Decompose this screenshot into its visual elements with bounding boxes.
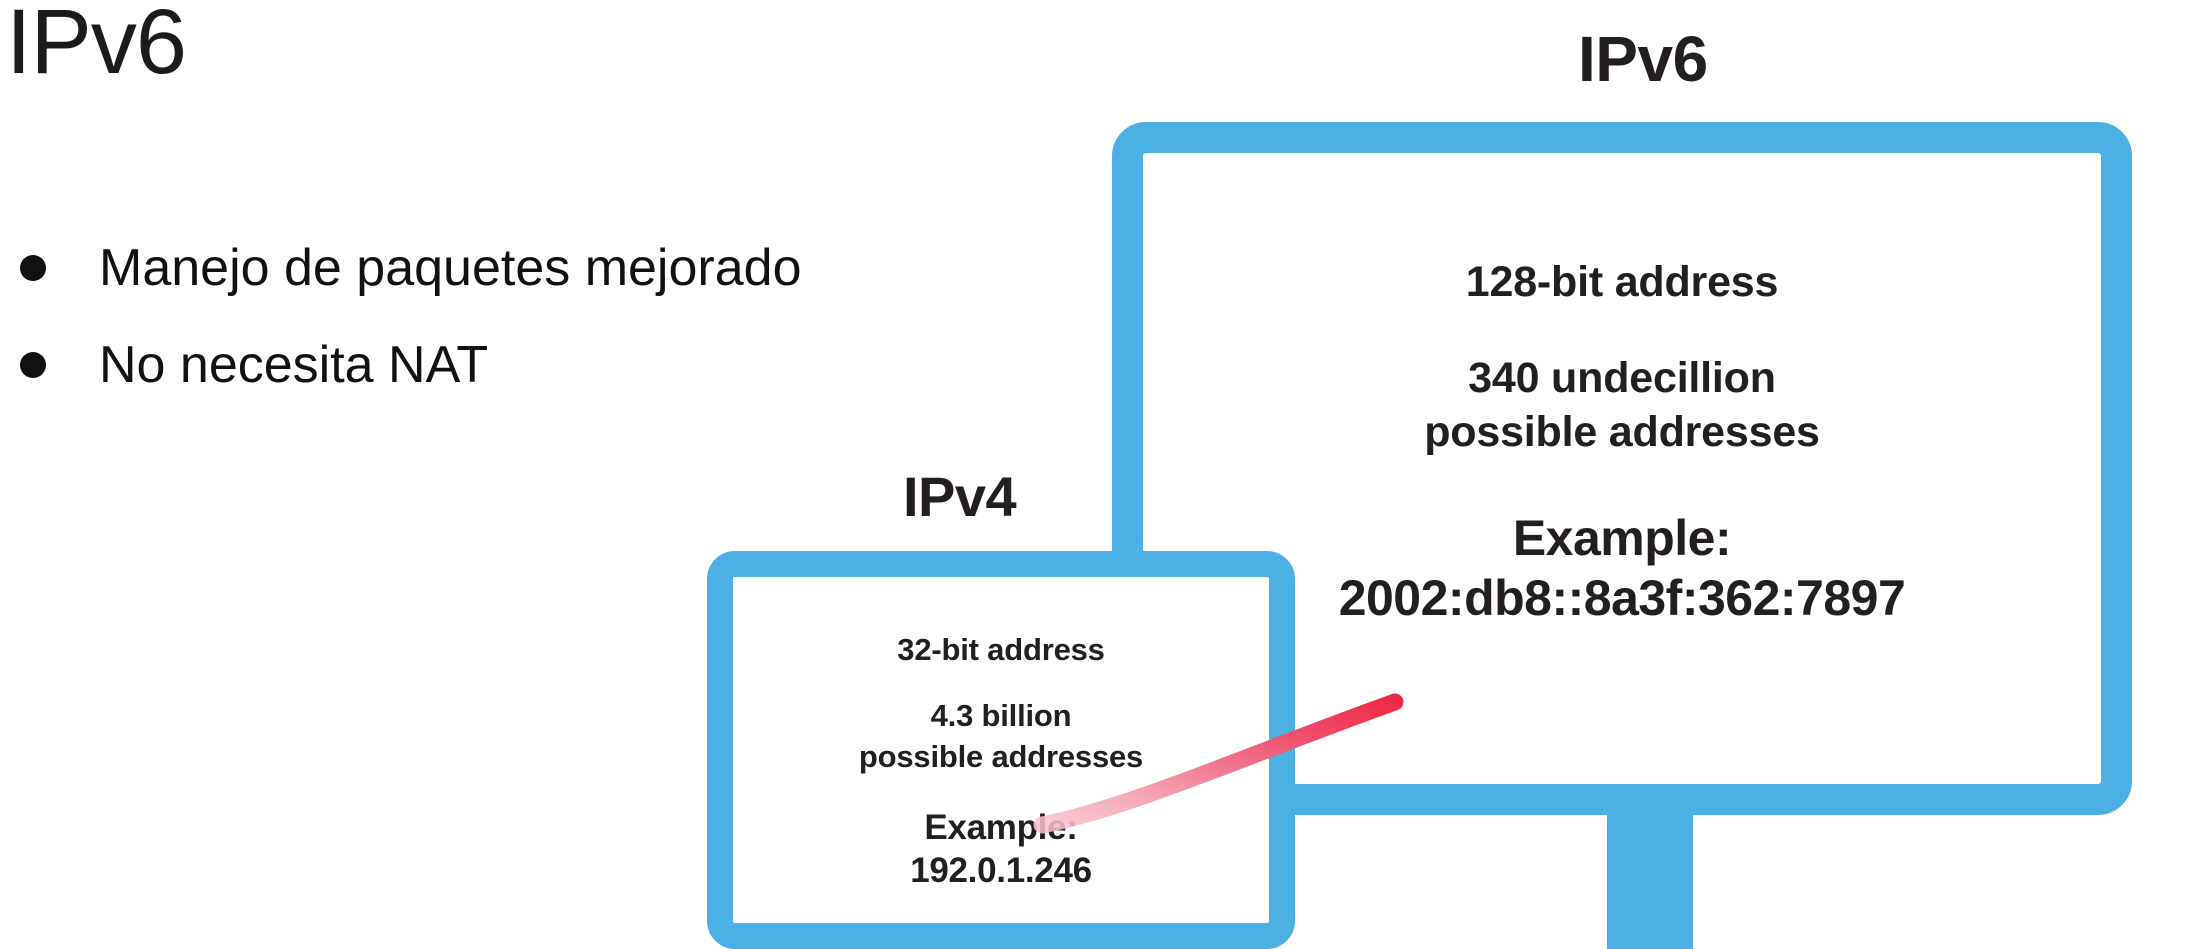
ipv6-example-block: Example: 2002:db8::8a3f:362:7897 — [1160, 508, 2084, 628]
ipv4-screen-content: 32-bit address 4.3 billion possible addr… — [740, 630, 1262, 892]
ipv6-diagram-label: IPv6 — [1578, 21, 1708, 98]
bullet-dot-icon — [20, 255, 46, 281]
page-title: IPv6 — [6, 0, 186, 97]
ipv6-bit-line: 128-bit address — [1160, 255, 2084, 309]
spacer — [1160, 309, 2084, 351]
ipv6-example-value: 2002:db8::8a3f:362:7897 — [1160, 568, 2084, 628]
bullet-text: No necesita NAT — [99, 335, 488, 396]
ipv4-count-line-1: 4.3 billion — [740, 696, 1262, 736]
ipv4-example-value: 192.0.1.246 — [740, 850, 1262, 893]
ipv4-diagram-label: IPv4 — [903, 463, 1016, 530]
ipv6-example-label: Example: — [1160, 508, 2084, 568]
ipv4-example-block: Example: 192.0.1.246 — [740, 807, 1262, 892]
bullet-list: Manejo de paquetes mejorado No necesita … — [10, 238, 990, 433]
slide-canvas: IPv6 Manejo de paquetes mejorado No nece… — [0, 0, 2211, 949]
bullet-text: Manejo de paquetes mejorado — [99, 238, 801, 299]
bullet-dot-icon — [20, 352, 46, 378]
ipv6-count-line-2: possible addresses — [1160, 405, 2084, 459]
ipv6-count-line-1: 340 undecillion — [1160, 351, 2084, 405]
ipv4-bit-line: 32-bit address — [740, 630, 1262, 670]
ipv4-example-label: Example: — [740, 807, 1262, 850]
list-item: No necesita NAT — [10, 335, 990, 396]
ipv6-screen-content: 128-bit address 340 undecillion possible… — [1160, 255, 2084, 628]
ipv4-count-line-2: possible addresses — [740, 737, 1262, 777]
ipv6-monitor-stand-icon — [1607, 808, 1693, 949]
list-item: Manejo de paquetes mejorado — [10, 238, 990, 299]
